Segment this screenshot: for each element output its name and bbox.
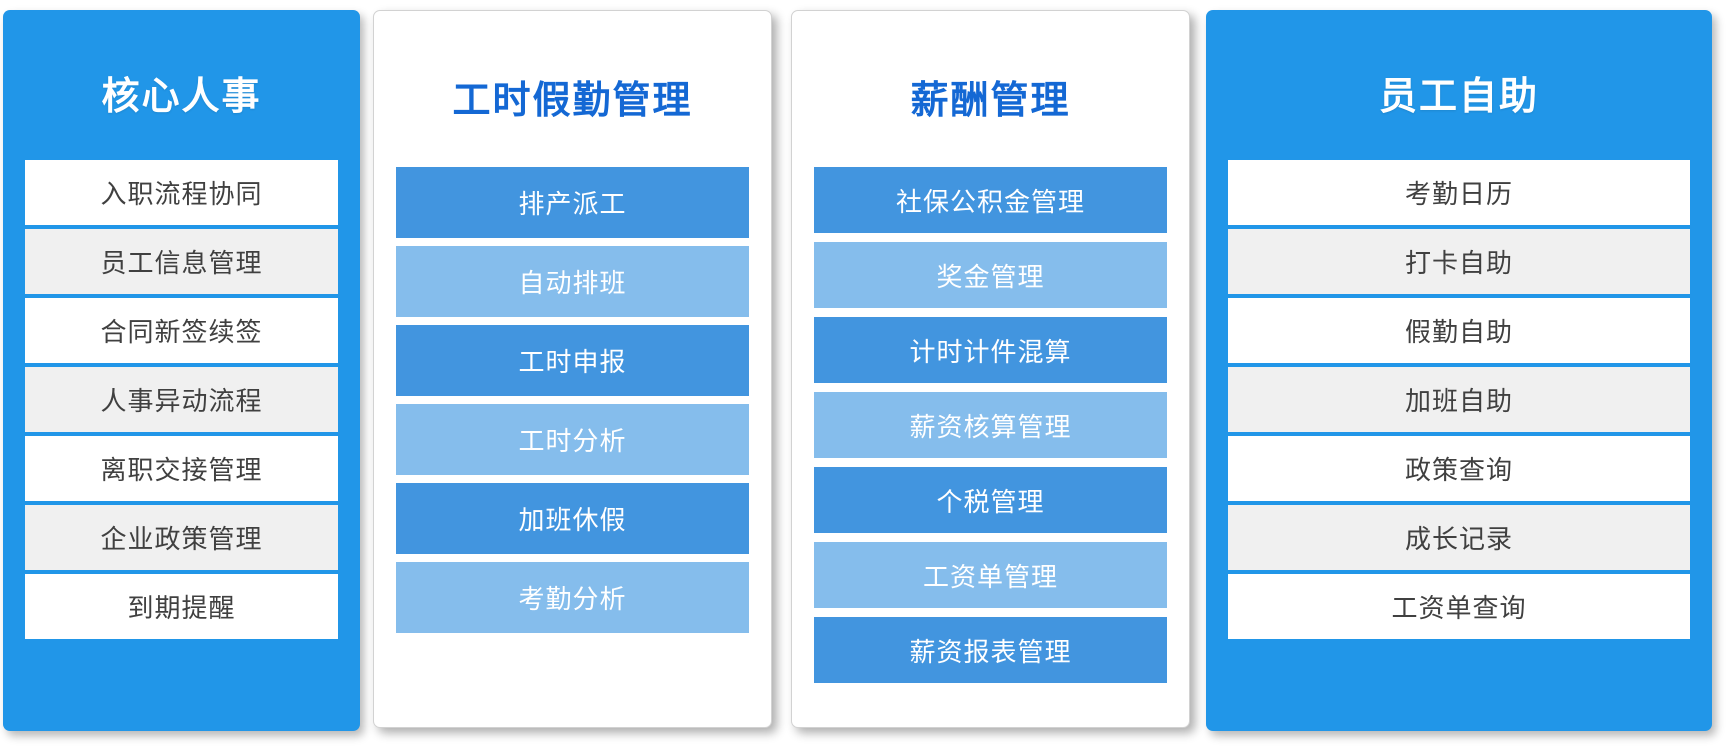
list-item[interactable]: 政策查询 — [1228, 436, 1690, 501]
list-item[interactable]: 奖金管理 — [814, 242, 1167, 308]
module-overview-board: 核心人事 入职流程协同 员工信息管理 合同新签续签 人事异动流程 离职交接管理 … — [0, 0, 1730, 753]
list-item[interactable]: 到期提醒 — [25, 574, 338, 639]
list-item[interactable]: 考勤分析 — [396, 562, 749, 633]
list-item[interactable]: 工时申报 — [396, 325, 749, 396]
list-item[interactable]: 薪资报表管理 — [814, 617, 1167, 683]
card-title: 核心人事 — [3, 10, 360, 160]
card-title: 员工自助 — [1206, 10, 1712, 160]
list-item[interactable]: 人事异动流程 — [25, 367, 338, 432]
list-item[interactable]: 工资单查询 — [1228, 574, 1690, 639]
list-item[interactable]: 计时计件混算 — [814, 317, 1167, 383]
list-item[interactable]: 工资单管理 — [814, 542, 1167, 608]
module-card-core-hr[interactable]: 核心人事 入职流程协同 员工信息管理 合同新签续签 人事异动流程 离职交接管理 … — [3, 10, 360, 731]
list-item[interactable]: 合同新签续签 — [25, 298, 338, 363]
module-card-employee-self-service[interactable]: 员工自助 考勤日历 打卡自助 假勤自助 加班自助 政策查询 成长记录 工资单查询 — [1206, 10, 1712, 731]
list-item[interactable]: 员工信息管理 — [25, 229, 338, 294]
list-item[interactable]: 考勤日历 — [1228, 160, 1690, 225]
list-item[interactable]: 打卡自助 — [1228, 229, 1690, 294]
list-item[interactable]: 假勤自助 — [1228, 298, 1690, 363]
list-item[interactable]: 入职流程协同 — [25, 160, 338, 225]
list-item[interactable]: 成长记录 — [1228, 505, 1690, 570]
list-item[interactable]: 薪资核算管理 — [814, 392, 1167, 458]
list-item[interactable]: 离职交接管理 — [25, 436, 338, 501]
list-item[interactable]: 个税管理 — [814, 467, 1167, 533]
module-card-payroll[interactable]: 薪酬管理 社保公积金管理 奖金管理 计时计件混算 薪资核算管理 个税管理 工资单… — [791, 10, 1190, 728]
list-item[interactable]: 排产派工 — [396, 167, 749, 238]
card-item-list: 排产派工 自动排班 工时申报 工时分析 加班休假 考勤分析 — [374, 167, 771, 727]
list-item[interactable]: 自动排班 — [396, 246, 749, 317]
card-title: 薪酬管理 — [792, 11, 1189, 167]
module-card-time-attendance[interactable]: 工时假勤管理 排产派工 自动排班 工时申报 工时分析 加班休假 考勤分析 — [373, 10, 772, 728]
card-title: 工时假勤管理 — [374, 11, 771, 167]
card-item-list: 考勤日历 打卡自助 假勤自助 加班自助 政策查询 成长记录 工资单查询 — [1206, 160, 1712, 731]
card-item-list: 入职流程协同 员工信息管理 合同新签续签 人事异动流程 离职交接管理 企业政策管… — [3, 160, 360, 731]
list-item[interactable]: 社保公积金管理 — [814, 167, 1167, 233]
card-item-list: 社保公积金管理 奖金管理 计时计件混算 薪资核算管理 个税管理 工资单管理 薪资… — [792, 167, 1189, 727]
list-item[interactable]: 工时分析 — [396, 404, 749, 475]
list-item[interactable]: 企业政策管理 — [25, 505, 338, 570]
list-item[interactable]: 加班自助 — [1228, 367, 1690, 432]
list-item[interactable]: 加班休假 — [396, 483, 749, 554]
